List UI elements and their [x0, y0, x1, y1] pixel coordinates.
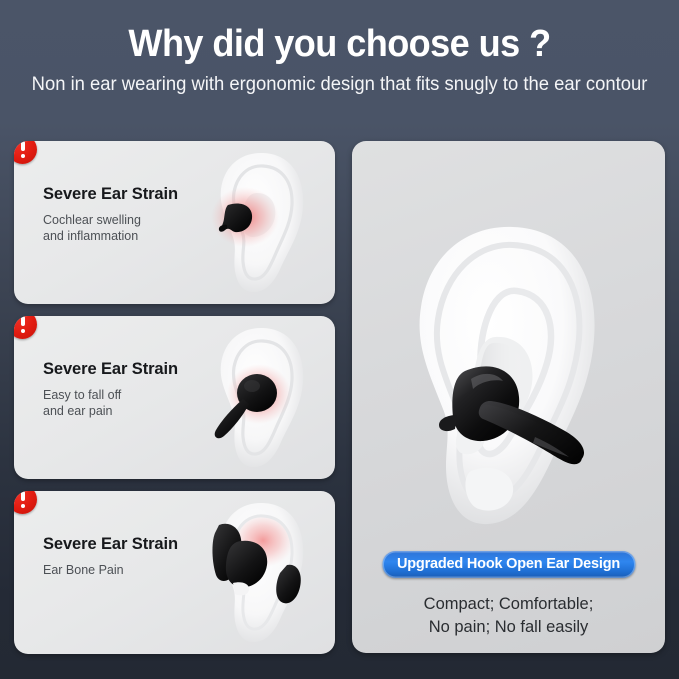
problem-card-text: Severe Ear Strain Easy to fall off and e…	[43, 360, 208, 420]
problem-card-description: Ear Bone Pain	[43, 555, 208, 579]
showcase-panel: Upgraded Hook Open Ear Design Compact; C…	[352, 141, 665, 653]
problem-card: Severe Ear Strain Easy to fall off and e…	[14, 316, 335, 479]
ear-with-clip-on-bud-irritation-image	[197, 495, 323, 650]
problem-card-description: Easy to fall off and ear pain	[43, 380, 208, 420]
problem-card-title: Severe Ear Strain	[43, 360, 208, 380]
problem-card-text: Severe Ear Strain Cochlear swelling and …	[43, 185, 208, 245]
ear-with-stem-earbud-irritation-image	[197, 320, 323, 475]
problem-card-title: Severe Ear Strain	[43, 185, 208, 205]
problem-card: Severe Ear Strain Cochlear swelling and …	[14, 141, 335, 304]
problem-card-text: Severe Ear Strain Ear Bone Pain	[43, 535, 208, 578]
header: Why did you choose us ? Non in ear weari…	[0, 0, 679, 99]
showcase-caption: Compact; Comfortable; No pain; No fall e…	[352, 593, 665, 640]
alert-exclamation-icon	[14, 491, 37, 514]
alert-exclamation-icon	[14, 141, 37, 164]
showcase-column: Upgraded Hook Open Ear Design Compact; C…	[352, 141, 665, 653]
problem-card-list: Severe Ear Strain Cochlear swelling and …	[14, 141, 335, 653]
page-title: Why did you choose us ?	[17, 0, 662, 67]
problem-card-title: Severe Ear Strain	[43, 535, 208, 555]
feature-badge: Upgraded Hook Open Ear Design	[382, 551, 635, 578]
problem-card-description: Cochlear swelling and inflammation	[43, 205, 208, 245]
alert-exclamation-icon	[14, 316, 37, 339]
problem-card: Severe Ear Strain Ear Bone Pain	[14, 491, 335, 654]
page-subtitle: Non in ear wearing with ergonomic design…	[10, 67, 669, 99]
ear-with-inear-bud-irritation-image	[197, 145, 323, 300]
product-infographic: Why did you choose us ? Non in ear weari…	[0, 0, 679, 679]
content-area: Severe Ear Strain Cochlear swelling and …	[14, 141, 665, 653]
ear-with-open-ear-hook-earbud-image	[385, 219, 633, 537]
